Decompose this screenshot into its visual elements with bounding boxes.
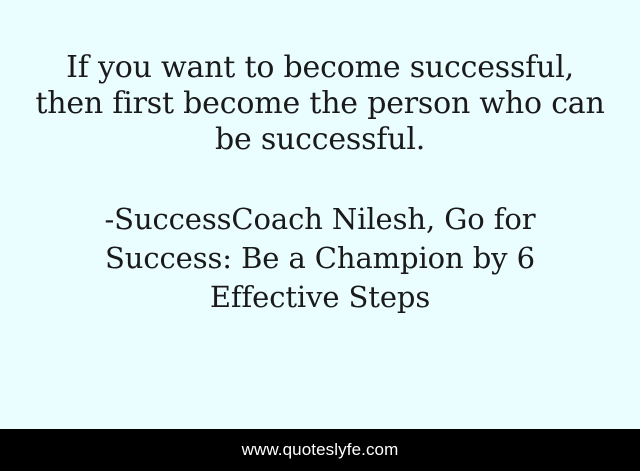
quote-attribution: -SuccessCoach Nilesh, Go for Success: Be… bbox=[30, 200, 610, 317]
quote-text: If you want to become successful, then f… bbox=[30, 50, 610, 158]
quote-content-area: If you want to become successful, then f… bbox=[0, 0, 640, 430]
quote-card: If you want to become successful, then f… bbox=[0, 0, 640, 471]
footer-bar: www.quoteslyfe.com bbox=[0, 429, 640, 471]
footer-website-url[interactable]: www.quoteslyfe.com bbox=[242, 440, 399, 460]
quote-attribution-spacer bbox=[30, 158, 610, 200]
